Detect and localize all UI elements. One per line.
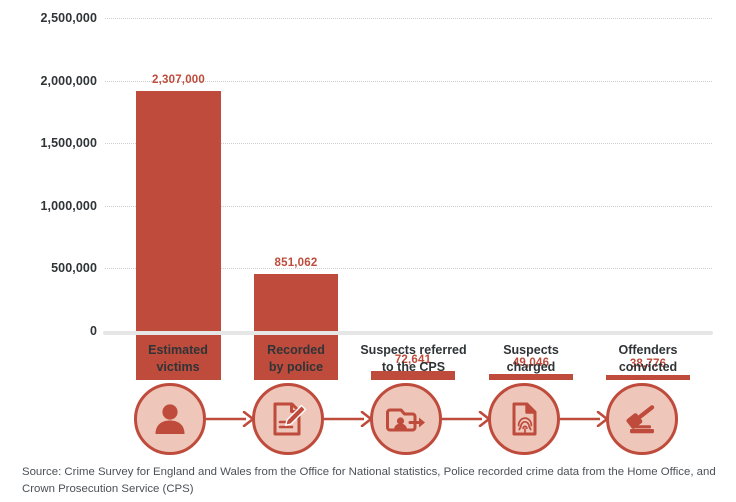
arrow-right-icon (560, 411, 610, 427)
arrow-right-icon (324, 411, 374, 427)
y-axis-tick-label: 1,500,000 (0, 136, 97, 150)
arrow-right-icon (442, 411, 492, 427)
bar-value-label: 2,307,000 (152, 74, 205, 86)
bar-chart: 2,500,000 2,000,000 1,500,000 1,000,000 … (0, 0, 736, 380)
document-pen-icon (268, 399, 308, 439)
person-transfer-icon (386, 399, 426, 439)
y-axis-tick-label: 2,500,000 (0, 11, 97, 25)
chart-page: 2,500,000 2,000,000 1,500,000 1,000,000 … (0, 0, 736, 502)
bar[interactable] (606, 375, 690, 380)
bar[interactable] (136, 91, 221, 380)
category-line: convicted (578, 359, 718, 376)
process-flow (0, 381, 736, 457)
y-axis-tick-label: 0 (0, 324, 97, 338)
x-axis-baseline (103, 331, 713, 335)
y-axis-tick-label: 2,000,000 (0, 74, 97, 88)
source-caption: Source: Crime Survey for England and Wal… (22, 464, 722, 497)
arrow-right-icon (206, 411, 256, 427)
gavel-icon (621, 398, 663, 440)
y-axis: 2,500,000 2,000,000 1,500,000 1,000,000 … (0, 18, 97, 331)
flow-node-suspects-referred[interactable] (370, 383, 442, 455)
y-axis-tick-label: 500,000 (0, 261, 97, 275)
category-line: Offenders (578, 342, 718, 359)
flow-node-offenders-convicted[interactable] (606, 383, 678, 455)
fingerprint-document-icon (505, 400, 543, 438)
person-icon (151, 400, 189, 438)
y-axis-tick-label: 1,000,000 (0, 199, 97, 213)
bar-value-label: 851,062 (275, 257, 318, 269)
flow-node-suspects-charged[interactable] (488, 383, 560, 455)
flow-node-recorded-by-police[interactable] (252, 383, 324, 455)
gridline (105, 18, 712, 19)
x-axis-category-label: Offenders convicted (578, 342, 718, 375)
flow-node-estimated-victims[interactable] (134, 383, 206, 455)
